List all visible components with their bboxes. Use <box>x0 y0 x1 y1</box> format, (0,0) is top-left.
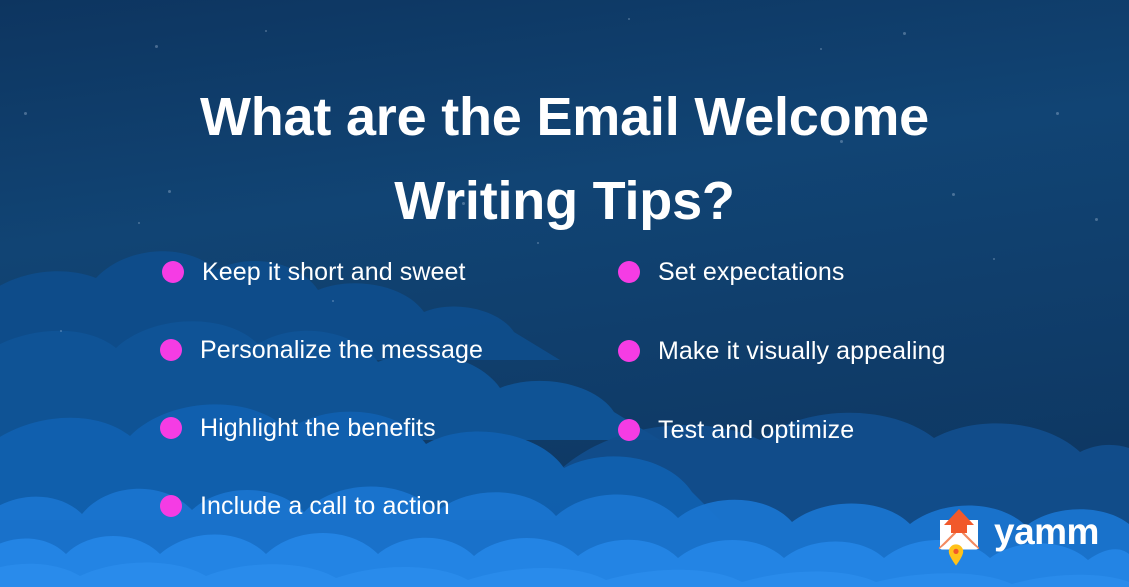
tip-label: Keep it short and sweet <box>202 260 466 285</box>
page-title-line-2: Writing Tips? <box>90 160 1039 244</box>
tip-item: Highlight the benefits <box>160 408 606 448</box>
infographic-card: What are the Email Welcome Writing Tips?… <box>0 0 1129 587</box>
tip-label: Highlight the benefits <box>200 416 436 441</box>
tip-label: Test and optimize <box>658 418 854 443</box>
tip-item: Keep it short and sweet <box>162 252 606 292</box>
open-envelope-arrow-icon <box>936 506 982 562</box>
bullet-dot-icon <box>618 340 640 362</box>
bullet-dot-icon <box>618 419 640 441</box>
tips-column-right: Set expectations Make it visually appeal… <box>618 252 1088 489</box>
tips-column-left: Keep it short and sweet Personalize the … <box>146 252 606 564</box>
bullet-dot-icon <box>160 417 182 439</box>
bullet-dot-icon <box>160 495 182 517</box>
brand-logo: yamm <box>936 506 1099 562</box>
bullet-dot-icon <box>160 339 182 361</box>
tip-label: Personalize the message <box>200 338 483 363</box>
brand-wordmark: yamm <box>994 513 1099 550</box>
tip-label: Make it visually appealing <box>658 339 945 364</box>
tip-item: Personalize the message <box>160 330 606 370</box>
tip-item: Include a call to action <box>160 486 606 526</box>
tip-item: Make it visually appealing <box>618 331 1088 371</box>
page-title-line-1: What are the Email Welcome <box>90 76 1039 160</box>
tip-item: Set expectations <box>618 252 1088 292</box>
tip-label: Include a call to action <box>200 494 450 519</box>
bullet-dot-icon <box>162 261 184 283</box>
page-title: What are the Email Welcome Writing Tips? <box>0 76 1129 243</box>
tip-label: Set expectations <box>658 260 844 285</box>
tip-item: Test and optimize <box>618 410 1088 450</box>
bullet-dot-icon <box>618 261 640 283</box>
location-pin-icon <box>948 544 964 566</box>
